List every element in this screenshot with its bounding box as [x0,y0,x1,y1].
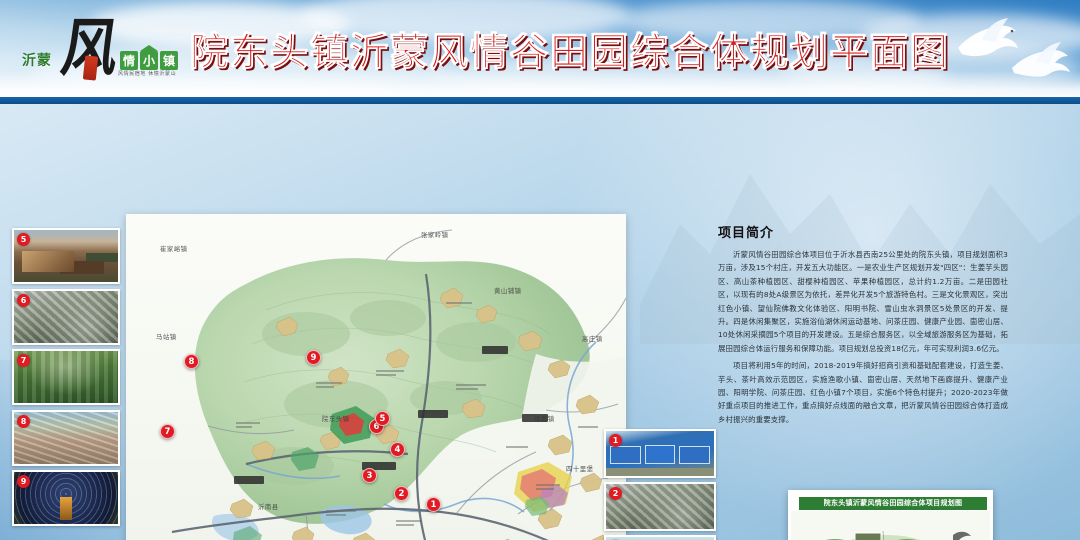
photo-badge: 9 [17,475,30,488]
photo-thumbnail[interactable]: 3 [604,535,716,540]
inset-map-title: 院东头镇沂蒙风情谷田园综合体项目规划图 [799,497,987,510]
brand-badge-word-1: 小 [140,51,158,70]
map-area-label: 崔家峪镇 [160,244,188,253]
photo-thumbnail[interactable]: 7 [12,349,120,405]
map-area-label: 张家岭镇 [421,230,449,239]
photo-thumbnail[interactable]: 8 [12,410,120,466]
photo-badge: 6 [17,294,30,307]
map-area-label: 院东头镇 [322,414,350,423]
map-marker-8[interactable]: 8 [184,354,199,369]
photo-thumbnail[interactable]: 6 [12,289,120,345]
map-area-label: 马站镇 [156,332,177,341]
map-marker-4[interactable]: 4 [390,442,405,457]
photo-badge: 5 [17,233,30,246]
map-drawing [126,214,626,540]
photo-image-dense-village-aerial [606,484,714,529]
brand-badge-words: 情 小 镇 [120,51,178,70]
map-marker-7[interactable]: 7 [160,424,175,439]
map-area-label: 沂南县 [258,502,279,511]
brand-badge-word-2: 镇 [160,51,178,70]
right-photo-strip: 1 2 3 4 [604,429,716,540]
map-marker-9[interactable]: 9 [306,350,321,365]
intro-paragraph: 沂蒙风情谷田园综合体项目位于沂水县西南25公里处的院东头镇，项目规划面积3万亩，… [718,248,1008,355]
map-marker-5[interactable]: 5 [375,411,390,426]
poster-body: 5 6 7 8 9 [0,104,1080,540]
dove-icon [1008,42,1076,86]
photo-badge: 2 [609,487,622,500]
photo-thumbnail[interactable]: 2 [604,482,716,531]
brand-tagline: 风情民宿地 休憧沂蒙山 [118,70,176,77]
map-marker-3[interactable]: 3 [362,468,377,483]
map-marker-1[interactable]: 1 [426,497,441,512]
photo-thumbnail[interactable]: 5 [12,228,120,284]
photo-image-greenhouse-fishery [606,431,714,476]
photo-thumbnail[interactable]: 9 [12,470,120,526]
photo-badge: 8 [17,415,30,428]
map-area-label: 四十里堡 [566,464,594,473]
brand-badge-word-0: 情 [120,51,138,70]
intro-heading: 项目简介 [718,222,1008,241]
map-area-label: 诸葛镇 [534,414,555,423]
brand-left-text: 沂蒙 [22,50,52,70]
page-title: 院东头镇沂蒙风情谷田园综合体规划平面图 [190,30,950,74]
project-intro-block: 项目简介 沂蒙风情谷田园综合体项目位于沂水县西南25公里处的院东头镇，项目规划面… [718,222,1008,430]
main-map-panel[interactable]: 张家岭镇黄山铺镇崔家峪镇马站镇沂南县院东头镇诸葛镇高庄镇四十里堡 8976543… [126,214,626,540]
photo-thumbnail[interactable]: 1 [604,429,716,478]
photo-badge: 1 [609,434,622,447]
photo-badge: 7 [17,354,30,367]
inset-map-drawing [791,511,993,540]
brand-logo: 沂蒙 风 情 小 镇 风情民宿地 休憧沂蒙山 [22,24,182,84]
map-area-label: 黄山铺镇 [494,286,522,295]
header-divider [0,97,1080,104]
poster-root: 沂蒙 风 情 小 镇 风情民宿地 休憧沂蒙山 院东头镇沂蒙风情谷田园综合体规划平… [0,0,1080,540]
map-marker-2[interactable]: 2 [394,486,409,501]
brand-seal-icon [83,55,98,80]
inset-map-panel[interactable]: 院东头镇沂蒙风情谷田园综合体项目规划图 [788,490,993,540]
intro-paragraph: 项目将利用5年的时间，2018-2019年搞好招商引资和基础配套建设，打造生姜、… [718,359,1008,426]
left-photo-strip: 5 6 7 8 9 [12,228,120,528]
map-area-label: 高庄镇 [582,334,603,343]
